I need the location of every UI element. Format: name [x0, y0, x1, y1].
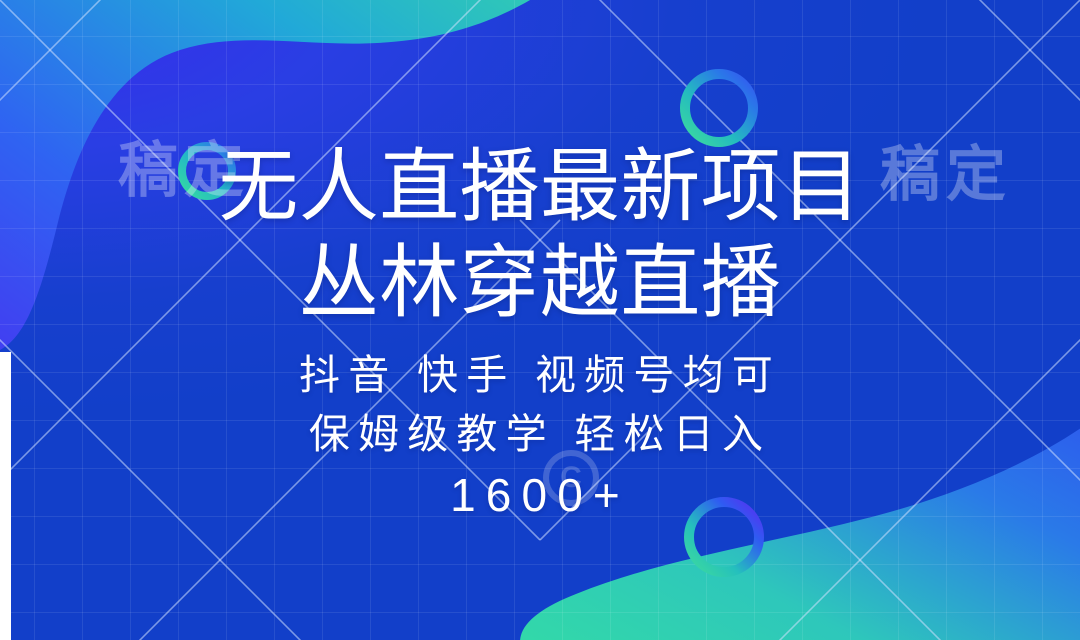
promo-poster: 稿定 稿定 C 无人直播最新项目 丛林穿越直播 抖音 快手 视频号均可 保姆级教… [0, 0, 1080, 640]
headline-line-2: 丛林穿越直播 [299, 242, 781, 324]
subheadline-line-1: 抖音 快手 视频号均可 [299, 353, 781, 399]
poster-text-content: 无人直播最新项目 丛林穿越直播 抖音 快手 视频号均可 保姆级教学 轻松日入 1… [0, 0, 1080, 640]
subheadline-line-2: 保姆级教学 轻松日入 [309, 412, 771, 458]
headline-line-1: 无人直播最新项目 [218, 146, 861, 228]
subheadline-line-3: 1600+ [450, 470, 630, 522]
